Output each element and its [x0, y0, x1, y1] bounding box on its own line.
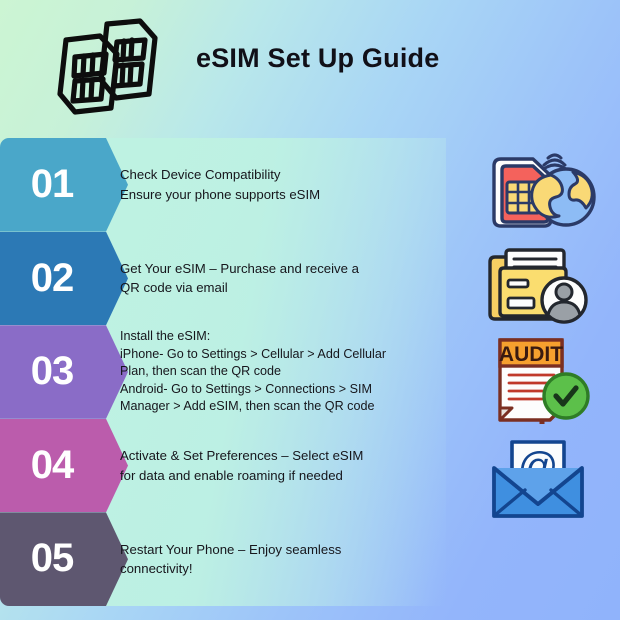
- step-line: for data and enable roaming if needed: [120, 466, 450, 486]
- step-line: Restart Your Phone – Enjoy seamless: [120, 540, 450, 560]
- step-badge-02: 02: [0, 232, 128, 326]
- step-text-03: Install the eSIM: iPhone- Go to Settings…: [120, 325, 450, 419]
- audit-label: AUDIT: [499, 343, 563, 366]
- step-line: Ensure your phone supports eSIM: [120, 185, 450, 205]
- step-text-02: Get Your eSIM – Purchase and receive a Q…: [120, 232, 450, 326]
- step-number-05: 05: [0, 512, 104, 606]
- audit-document-check-icon: AUDIT: [478, 330, 602, 424]
- step-line: Android- Go to Settings > Connections > …: [120, 381, 450, 399]
- step-row-03[interactable]: 03 Install the eSIM: iPhone- Go to Setti…: [0, 325, 460, 419]
- step-number-04: 04: [0, 419, 104, 513]
- step-number-01: 01: [0, 138, 104, 232]
- step-line: Plan, then scan the QR code: [120, 363, 450, 381]
- steps-list: 01 Check Device Compatibility Ensure you…: [0, 138, 460, 606]
- page-title: eSIM Set Up Guide: [196, 36, 496, 80]
- email-envelope-at-icon: @: [478, 428, 602, 522]
- step-line: Activate & Set Preferences – Select eSIM: [120, 446, 450, 466]
- step-number-02: 02: [0, 232, 104, 326]
- step-row-02[interactable]: 02 Get Your eSIM – Purchase and receive …: [0, 232, 460, 326]
- step-line: QR code via email: [120, 278, 450, 298]
- step-text-01: Check Device Compatibility Ensure your p…: [120, 138, 450, 232]
- esim-setup-infographic: eSIM Set Up Guide 01 Check Device Compat…: [0, 0, 620, 620]
- step-line: Manager > Add eSIM, then scan the QR cod…: [120, 398, 450, 416]
- step-row-05[interactable]: 05 Restart Your Phone – Enjoy seamless c…: [0, 512, 460, 606]
- dual-sim-cards-icon: [44, 16, 168, 116]
- step-badge-03: 03: [0, 325, 128, 419]
- step-badge-05: 05: [0, 512, 128, 606]
- icon-column: AUDIT @: [470, 138, 620, 606]
- step-badge-04: 04: [0, 419, 128, 513]
- step-text-04: Activate & Set Preferences – Select eSIM…: [120, 419, 450, 513]
- step-line: connectivity!: [120, 559, 450, 579]
- document-folder-user-icon: [478, 236, 602, 330]
- step-line: Get Your eSIM – Purchase and receive a: [120, 259, 450, 279]
- step-badge-01: 01: [0, 138, 128, 232]
- step-row-01[interactable]: 01 Check Device Compatibility Ensure you…: [0, 138, 460, 232]
- step-line: iPhone- Go to Settings > Cellular > Add …: [120, 346, 450, 364]
- step-line: Install the eSIM:: [120, 328, 450, 346]
- step-number-03: 03: [0, 325, 104, 419]
- step-row-04[interactable]: 04 Activate & Set Preferences – Select e…: [0, 419, 460, 513]
- header: eSIM Set Up Guide: [0, 0, 620, 128]
- step-line: Check Device Compatibility: [120, 165, 450, 185]
- sim-card-globe-icon: [478, 142, 602, 236]
- step-text-05: Restart Your Phone – Enjoy seamless conn…: [120, 512, 450, 606]
